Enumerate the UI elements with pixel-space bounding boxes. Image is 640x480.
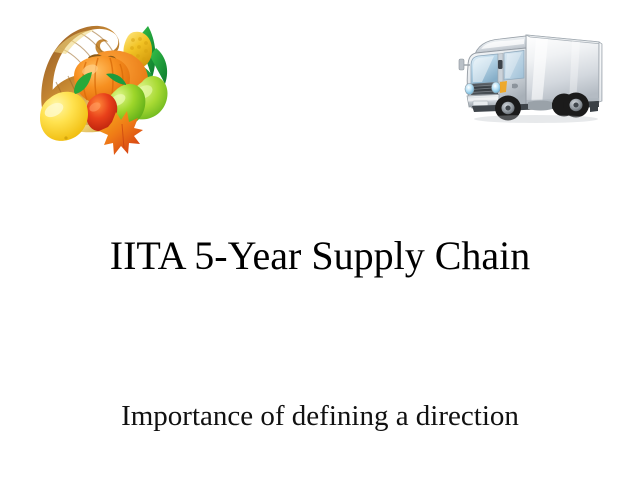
page-subtitle: Importance of defining a direction — [0, 398, 640, 434]
truck-turn-indicator — [500, 81, 507, 93]
truck-pillar-mirror — [498, 60, 503, 69]
truck-icon — [452, 22, 612, 130]
truck-cargo-box-rear — [599, 42, 602, 102]
truck-headlight-right — [492, 82, 501, 93]
cornucopia-image — [30, 12, 180, 160]
delivery-truck-image — [452, 22, 612, 130]
slide-canvas: IITA 5-Year Supply Chain Importance of d… — [0, 0, 640, 480]
truck-headlight-left — [465, 84, 474, 95]
truck-shadow — [474, 115, 598, 123]
cornucopia-icon — [30, 12, 180, 160]
title-container: IITA 5-Year Supply Chain — [0, 232, 640, 280]
page-title: IITA 5-Year Supply Chain — [0, 232, 640, 280]
truck-fuel-tank — [528, 101, 552, 111]
truck-mudflap — [590, 101, 598, 112]
subtitle-container: Importance of defining a direction — [0, 398, 640, 434]
truck-rear-wheel — [563, 93, 589, 118]
truck-license-plate — [473, 101, 488, 106]
